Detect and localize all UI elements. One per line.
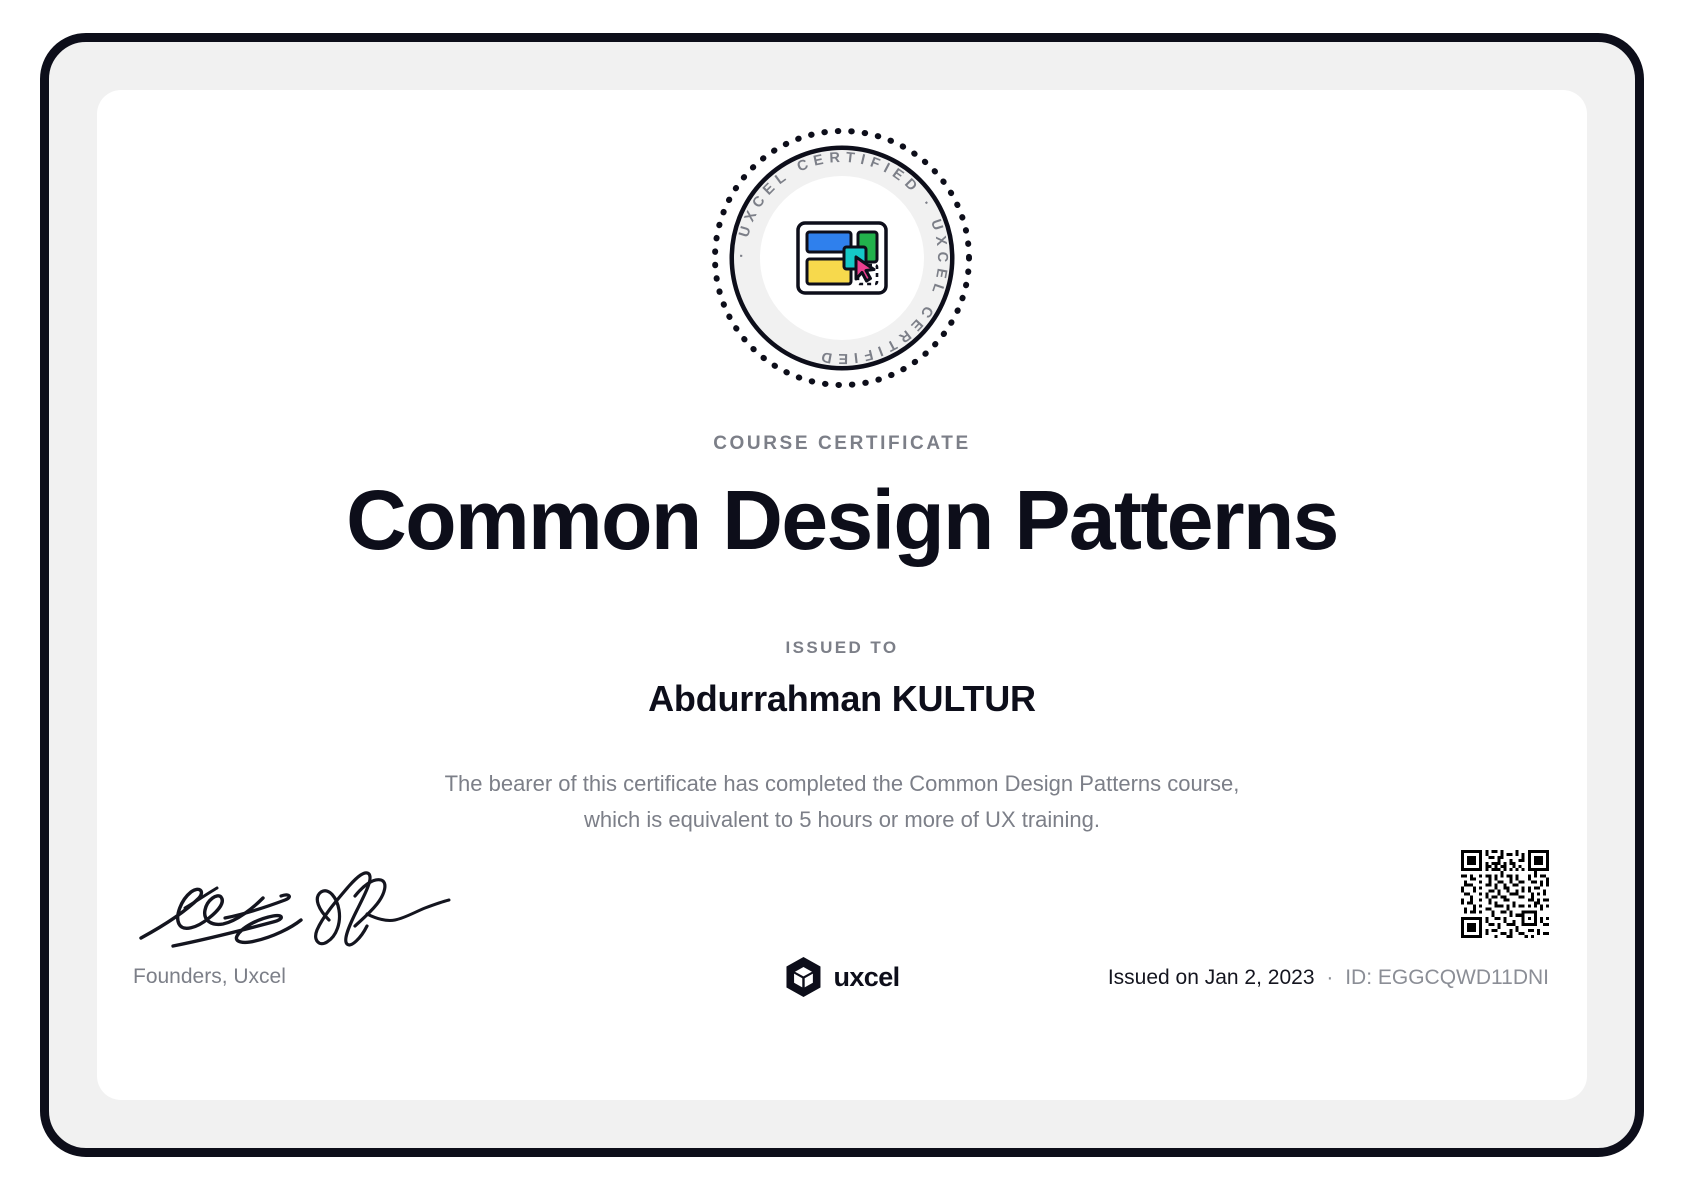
issue-date: Issued on Jan 2, 2023 bbox=[1108, 966, 1315, 989]
signature-one bbox=[141, 888, 301, 946]
signature-group bbox=[133, 860, 463, 960]
issue-info: Issued on Jan 2, 2023 · ID: EGGCQWD11DNI bbox=[1108, 966, 1549, 990]
verification-qr-code[interactable] bbox=[1461, 850, 1549, 938]
founders-label: Founders, Uxcel bbox=[133, 965, 286, 989]
issued-to-label: ISSUED TO bbox=[97, 638, 1587, 658]
certificate-frame: · UXCEL CERTIFIED · UXCEL CERTIFIED COUR… bbox=[40, 33, 1644, 1157]
uxcel-wordmark: uxcel bbox=[833, 962, 899, 993]
uxcel-brand: uxcel bbox=[784, 956, 899, 998]
course-title: Common Design Patterns bbox=[97, 475, 1587, 566]
certificate-description: The bearer of this certificate has compl… bbox=[442, 766, 1242, 839]
founder-signatures bbox=[133, 860, 463, 960]
qr-code-image bbox=[1461, 850, 1549, 938]
recipient-name: Abdurrahman KULTUR bbox=[97, 678, 1587, 720]
signature-two bbox=[316, 873, 449, 945]
certificate-kicker: COURSE CERTIFICATE bbox=[97, 433, 1587, 455]
design-patterns-icon bbox=[796, 221, 888, 295]
certificate-id: ID: EGGCQWD11DNI bbox=[1345, 966, 1549, 989]
issue-separator: · bbox=[1320, 966, 1339, 989]
uxcel-logo-icon bbox=[784, 956, 822, 998]
certificate-card: · UXCEL CERTIFIED · UXCEL CERTIFIED COUR… bbox=[97, 90, 1587, 1100]
certification-seal: · UXCEL CERTIFIED · UXCEL CERTIFIED bbox=[706, 122, 978, 394]
